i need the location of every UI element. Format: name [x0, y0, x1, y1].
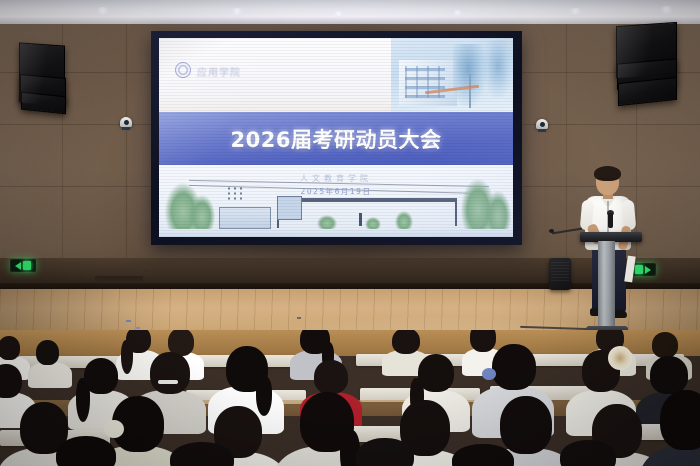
- downlight: [333, 11, 344, 17]
- downlight: [452, 10, 463, 16]
- person-head: [660, 390, 700, 450]
- floor-debris: [126, 320, 131, 322]
- person-head: [36, 340, 59, 365]
- podium-column: [598, 241, 615, 329]
- screen-glare: [159, 38, 513, 237]
- hair-clip: [158, 380, 178, 384]
- wall-panel-seam: [566, 24, 567, 286]
- downlight: [660, 6, 673, 14]
- handheld-microphone: [608, 213, 613, 228]
- exit-sign-left: [10, 259, 36, 272]
- person-head: [452, 444, 514, 466]
- gooseneck-mic-capsule: [549, 229, 554, 233]
- person-ponytail: [256, 376, 272, 416]
- person-head: [314, 360, 348, 394]
- person-head: [150, 352, 190, 394]
- camera-mount: [122, 127, 130, 130]
- camera-mount: [538, 129, 546, 132]
- auditorium-photo: 应用学院 2026届考研动员大会 人文教育学院 20: [0, 0, 700, 466]
- audience-seating: [0, 330, 700, 466]
- presentation-slide: 应用学院 2026届考研动员大会 人文教育学院 20: [159, 38, 513, 237]
- downlight: [96, 7, 109, 15]
- downlight: [569, 8, 582, 15]
- ceiling-light-trough: [0, 16, 700, 24]
- person-head: [650, 356, 688, 394]
- person-head: [492, 344, 536, 390]
- person-head: [0, 336, 20, 360]
- hair-scrunchie: [104, 420, 124, 438]
- person-head: [392, 330, 420, 354]
- ptz-camera-right: [536, 119, 548, 132]
- person-head: [500, 396, 552, 454]
- speaker-gloss: [616, 22, 677, 78]
- person-head: [56, 436, 116, 466]
- ptz-camera-left: [120, 117, 132, 130]
- person-head: [652, 332, 678, 358]
- wall-panel-seam: [126, 24, 127, 286]
- camera-lens-icon: [124, 120, 129, 125]
- person-head: [356, 438, 414, 466]
- flower-hair-clip: [608, 346, 632, 370]
- person-ponytail: [76, 378, 90, 422]
- speaker-grill: [551, 261, 569, 281]
- person-shoulders: [28, 362, 72, 388]
- floor-debris: [136, 327, 140, 329]
- person-head: [560, 440, 616, 466]
- person-ponytail: [121, 340, 133, 374]
- floor-debris: [297, 317, 301, 319]
- exit-arrow-left-icon: [15, 262, 21, 270]
- running-man-icon: [23, 261, 31, 270]
- eyeglasses-icon: [597, 178, 618, 182]
- person-head: [470, 330, 496, 352]
- speaker-gloss: [19, 42, 65, 105]
- hair-scrunchie: [482, 368, 496, 380]
- camera-lens-icon: [540, 122, 545, 127]
- exit-arrow-right-icon: [645, 266, 651, 274]
- downlight: [231, 8, 243, 15]
